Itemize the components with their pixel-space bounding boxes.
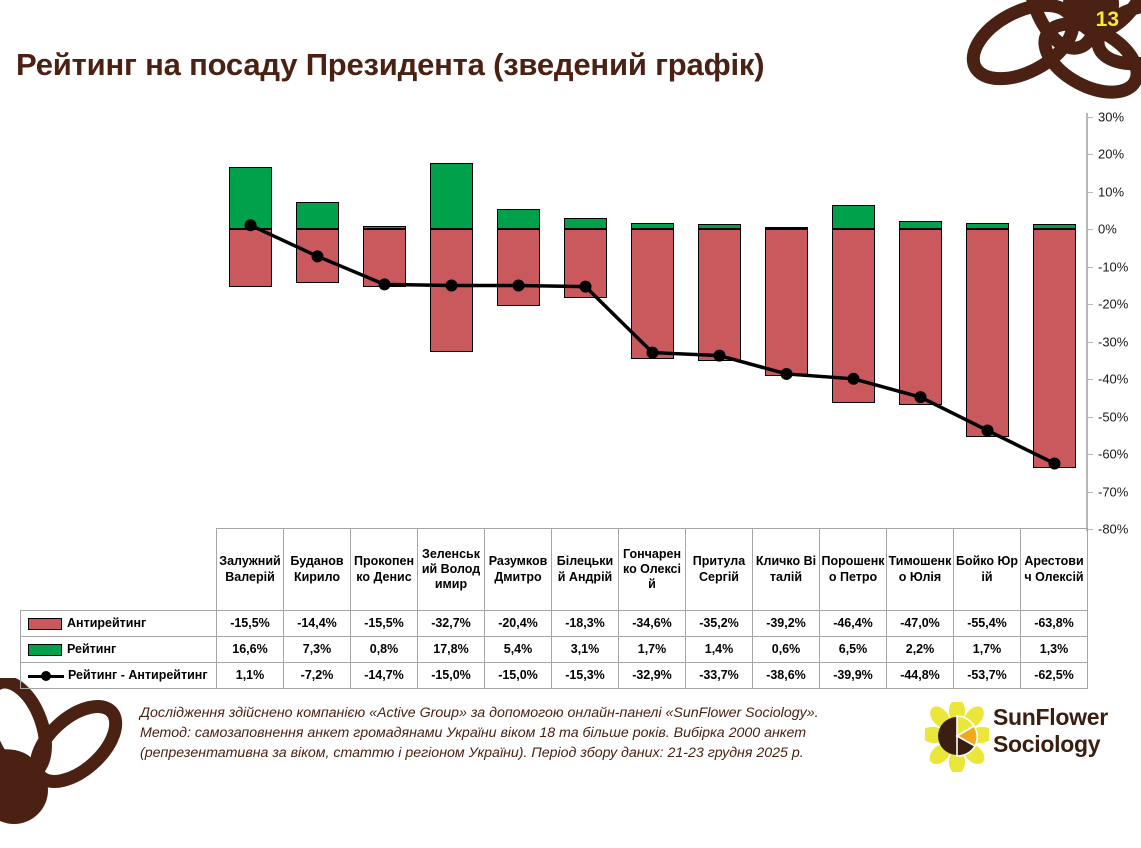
data-cell: 16,6% [217, 637, 284, 663]
data-cell: -14,4% [284, 611, 351, 637]
net-rating-point [379, 278, 391, 290]
candidate-header: Тимошенко Юлія [887, 529, 954, 611]
candidate-header: Зеленський Володимир [418, 529, 485, 611]
table-row: Рейтинг16,6%7,3%0,8%17,8%5,4%3,1%1,7%1,4… [21, 637, 1088, 663]
legend-label: Рейтинг [67, 642, 116, 656]
net-rating-point [982, 424, 994, 436]
data-cell: -47,0% [887, 611, 954, 637]
sunflower-sociology-logo: SunFlower Sociology [925, 702, 1125, 774]
logo-line-1: SunFlower [993, 704, 1108, 731]
data-cell: -15,0% [485, 663, 552, 689]
y-axis-tick-label: 20% [1098, 147, 1124, 162]
candidate-header: Гончаренко Олексій [619, 529, 686, 611]
y-axis-tick-label: -40% [1098, 372, 1128, 387]
table-row: Рейтинг - Антирейтинг1,1%-7,2%-14,7%-15,… [21, 663, 1088, 689]
data-cell: -15,5% [351, 611, 418, 637]
y-axis-tick [1086, 267, 1093, 268]
y-axis-tick [1086, 342, 1093, 343]
legend-cell: Рейтинг [21, 637, 217, 663]
data-cell: 2,2% [887, 637, 954, 663]
data-cell: 3,1% [552, 637, 619, 663]
data-cell: -15,3% [552, 663, 619, 689]
data-cell: -14,7% [351, 663, 418, 689]
legend-label: Рейтинг - Антирейтинг [68, 668, 208, 682]
y-axis-tick [1086, 454, 1093, 455]
y-axis-tick-label: 0% [1098, 222, 1117, 237]
data-cell: 6,5% [820, 637, 887, 663]
candidate-header: Кличко Віталій [753, 529, 820, 611]
y-axis-tick [1086, 154, 1093, 155]
data-cell: -32,9% [619, 663, 686, 689]
data-cell: 1,3% [1021, 637, 1088, 663]
logo-wordmark: SunFlower Sociology [993, 704, 1108, 757]
candidate-header: Порошенко Петро [820, 529, 887, 611]
y-axis-line [1086, 113, 1088, 531]
net-rating-point [781, 368, 793, 380]
y-axis-tick-label: -80% [1098, 522, 1128, 537]
y-axis-tick [1086, 379, 1093, 380]
candidate-header: Бойко Юрій [954, 529, 1021, 611]
net-rating-point [848, 373, 860, 385]
data-cell: -63,8% [1021, 611, 1088, 637]
methodology-footnote: Дослідження здійснено компанією «Active … [140, 703, 870, 763]
y-axis-tick [1086, 492, 1093, 493]
candidate-header: Білецький Андрій [552, 529, 619, 611]
data-cell: 0,8% [351, 637, 418, 663]
data-cell: -18,3% [552, 611, 619, 637]
chart: 30%20%10%0%-10%-20%-30%-40%-50%-60%-70%-… [0, 104, 1141, 534]
data-cell: -32,7% [418, 611, 485, 637]
data-cell: -39,2% [753, 611, 820, 637]
y-axis-tick-label: -10% [1098, 259, 1128, 274]
y-axis-tick [1086, 417, 1093, 418]
net-rating-point [446, 280, 458, 292]
data-cell: -38,6% [753, 663, 820, 689]
y-axis-tick-label: -30% [1098, 334, 1128, 349]
data-cell: -62,5% [1021, 663, 1088, 689]
net-rating-point [580, 281, 592, 293]
candidate-header: Разумков Дмитро [485, 529, 552, 611]
table-header-row: Залужний ВалерійБуданов КирилоПрокопенко… [21, 529, 1088, 611]
data-cell: -33,7% [686, 663, 753, 689]
y-axis-tick [1086, 229, 1093, 230]
data-cell: -39,9% [820, 663, 887, 689]
legend-header-blank [21, 529, 217, 611]
net-rating-point [312, 250, 324, 262]
data-cell: -53,7% [954, 663, 1021, 689]
data-cell: -35,2% [686, 611, 753, 637]
y-axis-tick [1086, 304, 1093, 305]
page-number: 13 [1096, 8, 1119, 32]
data-cell: 7,3% [284, 637, 351, 663]
data-cell: 1,4% [686, 637, 753, 663]
logo-line-2: Sociology [993, 731, 1108, 758]
data-cell: 1,7% [619, 637, 686, 663]
sunflower-logo-icon [925, 702, 989, 772]
y-axis-tick [1086, 117, 1093, 118]
candidate-header: Залужний Валерій [217, 529, 284, 611]
data-cell: 17,8% [418, 637, 485, 663]
page-title: Рейтинг на посаду Президента (зведений г… [16, 47, 764, 83]
data-cell: -7,2% [284, 663, 351, 689]
legend-label: Антирейтинг [67, 616, 146, 630]
data-cell: 1,7% [954, 637, 1021, 663]
net-rating-point [714, 350, 726, 362]
net-rating-point [513, 280, 525, 292]
data-cell: -20,4% [485, 611, 552, 637]
y-axis-tick-label: -70% [1098, 484, 1128, 499]
decorative-flower-bottom-left [0, 678, 148, 848]
net-rating-point [245, 219, 257, 231]
candidate-header: Прокопенко Денис [351, 529, 418, 611]
data-cell: -46,4% [820, 611, 887, 637]
legend-cell: Антирейтинг [21, 611, 217, 637]
data-cell: 5,4% [485, 637, 552, 663]
plot-area [0, 104, 1082, 534]
candidate-header: Арестович Олексій [1021, 529, 1088, 611]
data-cell: 1,1% [217, 663, 284, 689]
data-cell: -34,6% [619, 611, 686, 637]
data-cell: -55,4% [954, 611, 1021, 637]
y-axis-tick-label: 10% [1098, 184, 1124, 199]
candidate-header: Буданов Кирило [284, 529, 351, 611]
y-axis-tick-label: -50% [1098, 409, 1128, 424]
data-cell: -15,5% [217, 611, 284, 637]
net-rating-point [1049, 457, 1061, 469]
line-marker-swatch [28, 670, 64, 682]
data-cell: 0,6% [753, 637, 820, 663]
data-table: Залужний ВалерійБуданов КирилоПрокопенко… [20, 528, 1088, 689]
candidate-header: Притула Сергій [686, 529, 753, 611]
green-swatch [28, 644, 62, 656]
y-axis-tick-label: -60% [1098, 447, 1128, 462]
y-axis-tick-label: -20% [1098, 297, 1128, 312]
legend-cell: Рейтинг - Антирейтинг [21, 663, 217, 689]
y-axis-tick [1086, 192, 1093, 193]
net-rating-point [647, 347, 659, 359]
net-rating-point [915, 391, 927, 403]
net-rating-line [0, 104, 1082, 534]
data-cell: -15,0% [418, 663, 485, 689]
data-cell: -44,8% [887, 663, 954, 689]
table-row: Антирейтинг-15,5%-14,4%-15,5%-32,7%-20,4… [21, 611, 1088, 637]
y-axis-tick-label: 30% [1098, 110, 1124, 125]
red-swatch [28, 618, 62, 630]
